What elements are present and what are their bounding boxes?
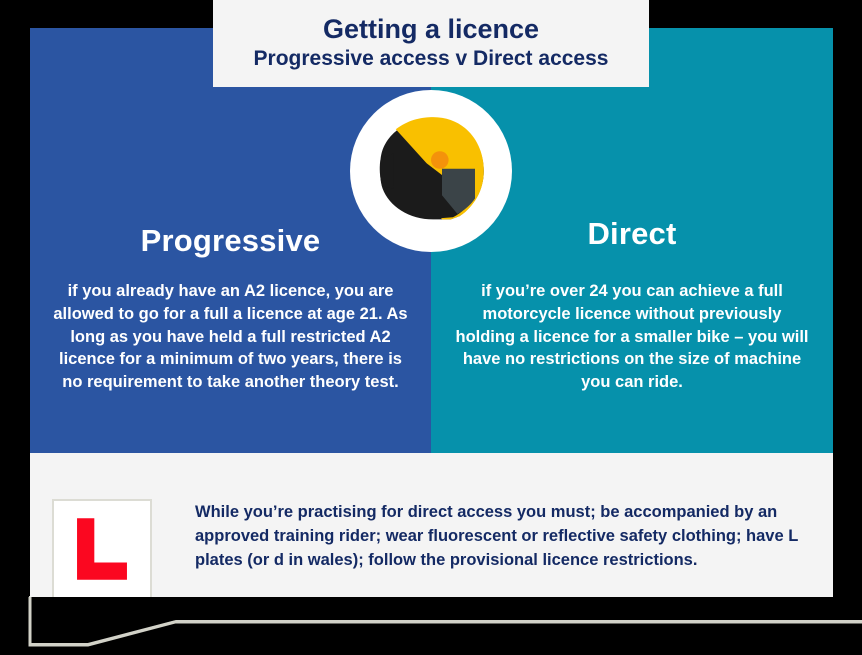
footer-text: While you’re practising for direct acces… [195, 501, 810, 573]
direct-body-text: if you’re over 24 you can achieve a full… [431, 280, 833, 394]
panel-progressive: Progressive if you already have an A2 li… [30, 28, 431, 453]
comparison-panels: Progressive if you already have an A2 li… [30, 28, 833, 453]
page-title: Getting a licence [323, 15, 539, 45]
motorcycle-helmet-glyph [365, 105, 497, 237]
infographic-stage: Progressive if you already have an A2 li… [0, 0, 862, 655]
title-box: Getting a licence Progressive access v D… [213, 0, 649, 87]
page-subtitle: Progressive access v Direct access [254, 46, 609, 72]
progressive-body-text: if you already have an A2 licence, you a… [30, 280, 431, 394]
learner-plate-l-glyph [54, 501, 150, 597]
learner-plate-icon [52, 499, 152, 597]
panel-direct: Direct if you’re over 24 you can achieve… [431, 28, 833, 453]
infographic-card: Progressive if you already have an A2 li… [30, 28, 833, 597]
footer-note: While you’re practising for direct acces… [30, 453, 833, 597]
motorcycle-helmet-icon [350, 90, 512, 252]
